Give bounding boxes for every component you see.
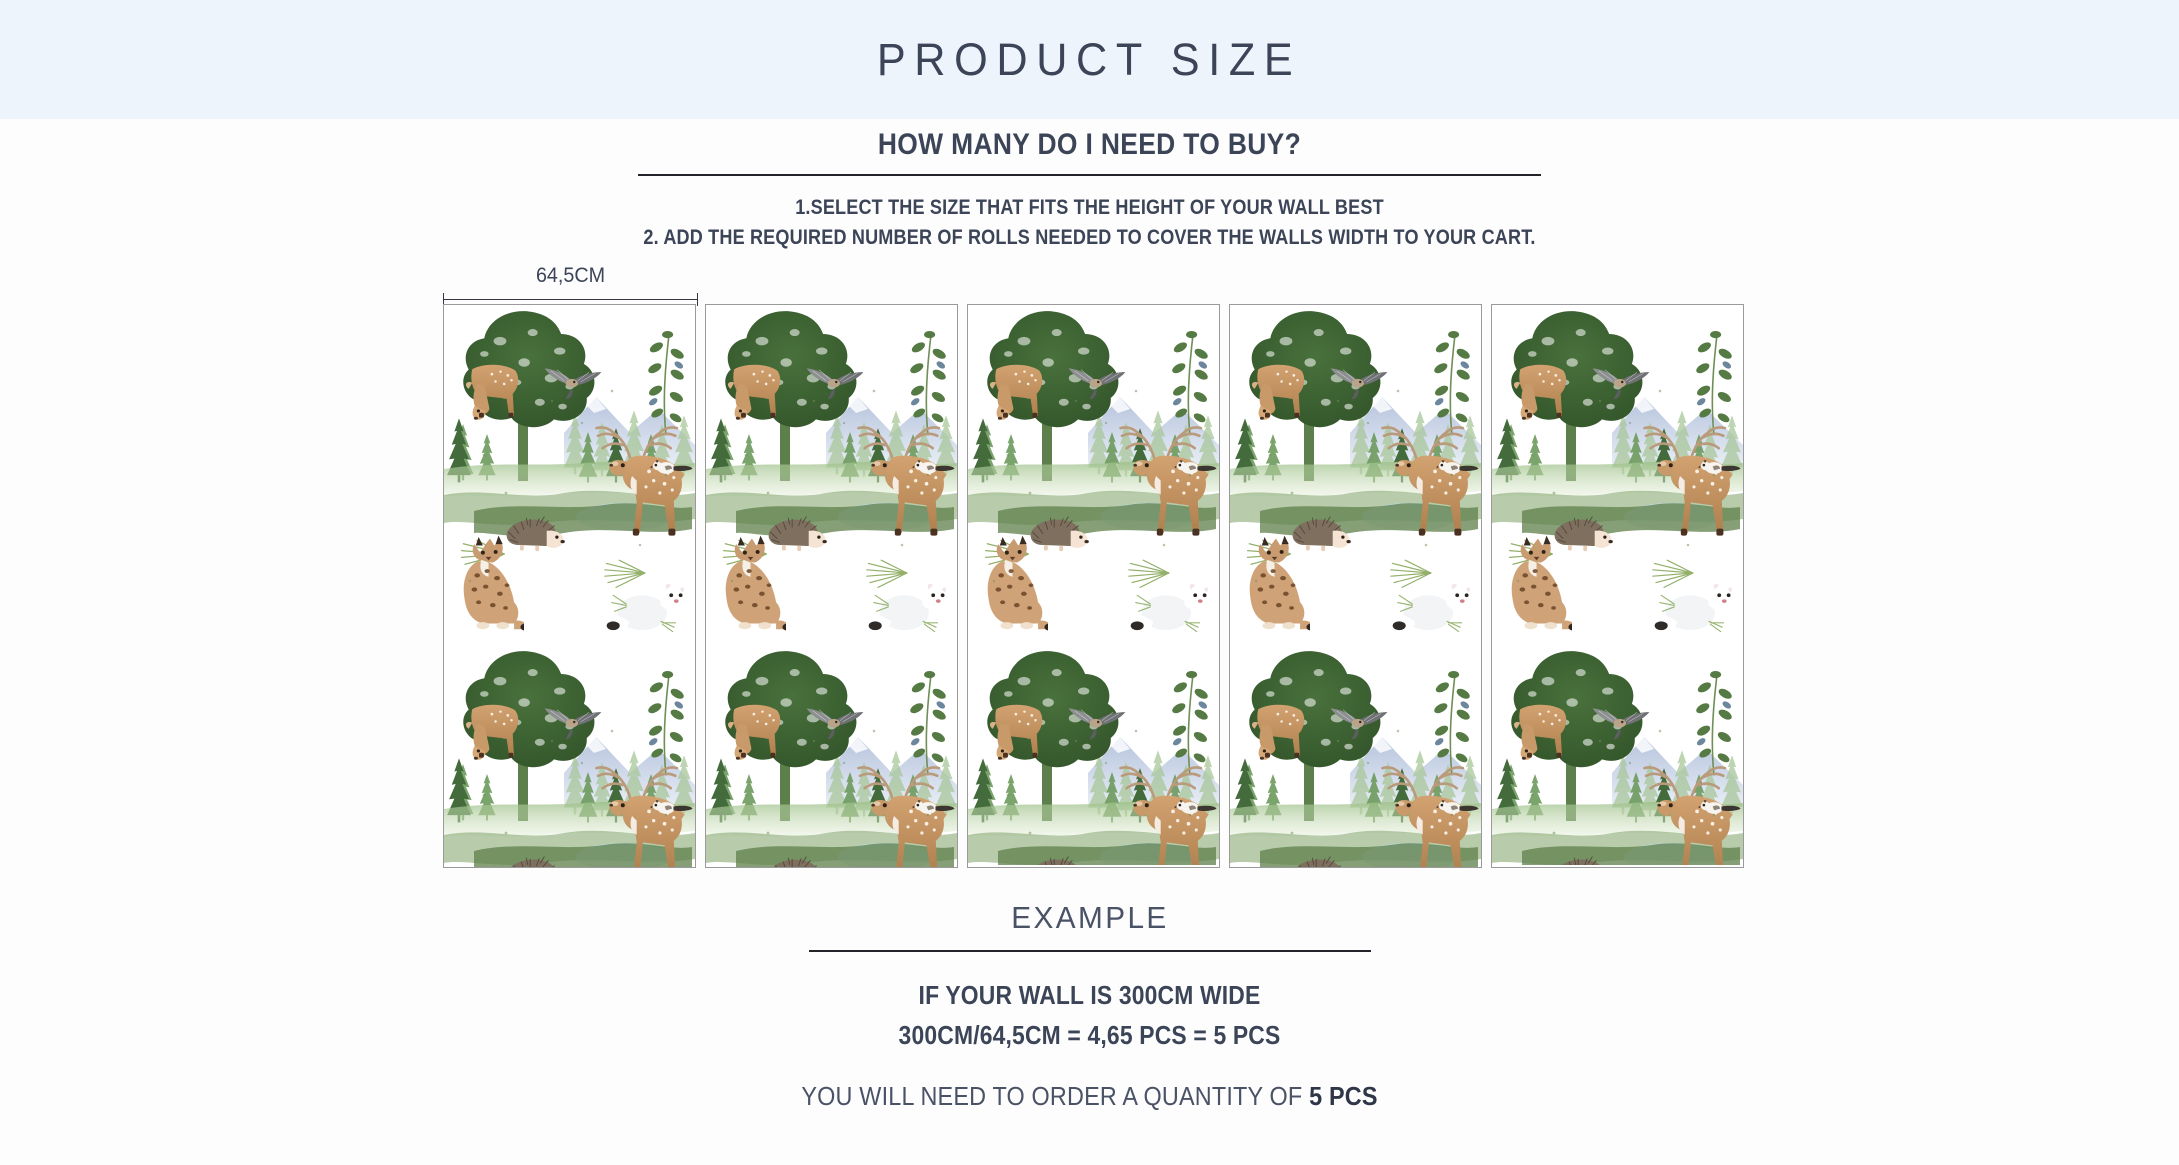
- intro-section: HOW MANY DO I NEED TO BUY? 1.SELECT THE …: [0, 128, 2179, 253]
- example-body: IF YOUR WALL IS 300CM WIDE 300CM/64,5CM …: [0, 980, 2179, 1112]
- wallpaper-panel-1[interactable]: [443, 304, 696, 868]
- example-result: YOU WILL NEED TO ORDER A QUANTITY OF 5 P…: [109, 1081, 2070, 1112]
- roll-width-dimension: 64,5CM: [443, 272, 698, 304]
- example-result-quantity: 5 PCS: [1309, 1081, 1378, 1111]
- example-divider: [809, 950, 1371, 952]
- example-result-prefix: YOU WILL NEED TO ORDER A QUANTITY OF: [801, 1081, 1309, 1111]
- wallpaper-panel-row: [443, 304, 1744, 868]
- roll-width-label: 64,5CM: [451, 264, 691, 288]
- page-header-banner: PRODUCT SIZE: [0, 0, 2179, 119]
- wallpaper-panel-5[interactable]: [1491, 304, 1744, 868]
- intro-divider: [638, 174, 1541, 176]
- intro-step-2: 2. ADD THE REQUIRED NUMBER OF ROLLS NEED…: [153, 223, 2027, 253]
- wallpaper-art-3: [968, 304, 1219, 865]
- wallpaper-panel-3[interactable]: [967, 304, 1220, 868]
- example-calculation: 300CM/64,5CM = 4,65 PCS = 5 PCS: [131, 1020, 2049, 1051]
- example-title: EXAMPLE: [1011, 900, 1168, 936]
- wallpaper-art-5: [1492, 304, 1743, 865]
- intro-heading: HOW MANY DO I NEED TO BUY?: [878, 128, 1301, 162]
- wallpaper-panel-2[interactable]: [705, 304, 958, 868]
- wallpaper-art-4: [1230, 304, 1481, 868]
- intro-steps: 1.SELECT THE SIZE THAT FITS THE HEIGHT O…: [0, 193, 2179, 253]
- wallpaper-art-2: [706, 304, 957, 868]
- example-wall-width: IF YOUR WALL IS 300CM WIDE: [131, 980, 2049, 1011]
- example-section: EXAMPLE IF YOUR WALL IS 300CM WIDE 300CM…: [0, 900, 2179, 1112]
- intro-step-1: 1.SELECT THE SIZE THAT FITS THE HEIGHT O…: [153, 193, 2027, 223]
- wallpaper-art-1: [444, 305, 695, 868]
- product-size-page: PRODUCT SIZE HOW MANY DO I NEED TO BUY? …: [0, 0, 2179, 1165]
- page-title: PRODUCT SIZE: [877, 34, 1302, 86]
- wallpaper-panel-4[interactable]: [1229, 304, 1482, 868]
- dimension-line: [443, 299, 698, 300]
